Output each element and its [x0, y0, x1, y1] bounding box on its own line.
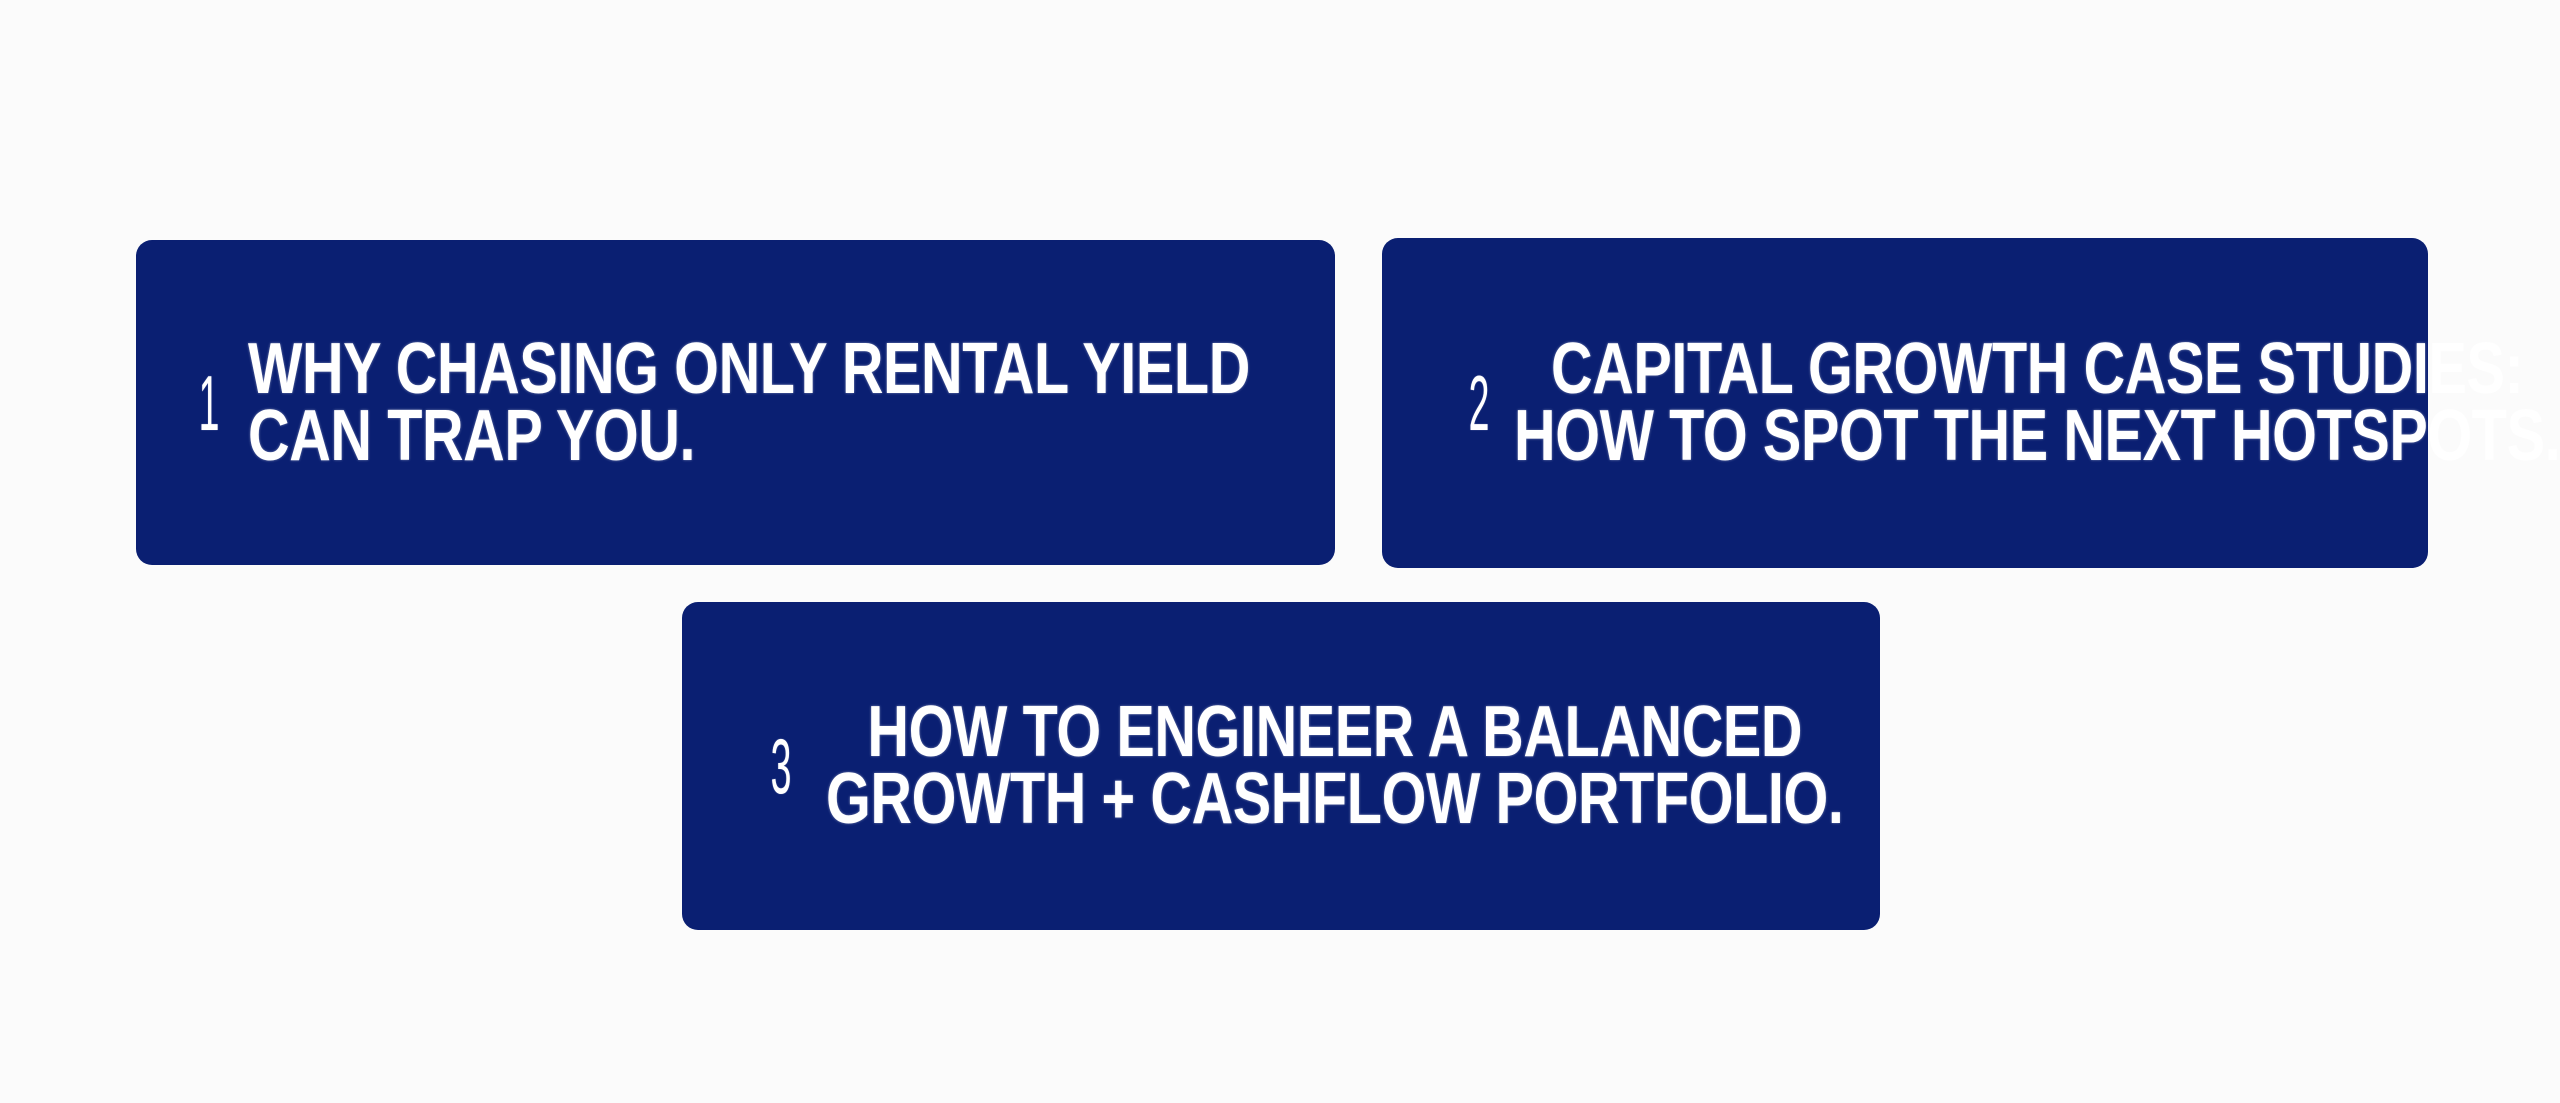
topic-card-1-title-line1: WHY CHASING ONLY RENTAL YIELD [248, 336, 1250, 403]
topic-card-2-title: CAPITAL GROWTH CASE STUDIES: HOW TO SPOT… [1514, 336, 2560, 470]
topic-card-1-title: WHY CHASING ONLY RENTAL YIELD CAN TRAP Y… [248, 336, 1250, 470]
topic-card-2-title-line2: HOW TO SPOT THE NEXT HOTSPOTS. [1514, 403, 2560, 470]
topic-card-2-number: 2 [1462, 364, 1496, 442]
topic-card-3-number: 3 [764, 727, 798, 805]
topic-card-3[interactable]: 3 HOW TO ENGINEER A BALANCED GROWTH + CA… [682, 602, 1880, 930]
topic-card-3-title-line1: HOW TO ENGINEER A BALANCED [826, 699, 1844, 766]
topic-card-3-title: HOW TO ENGINEER A BALANCED GROWTH + CASH… [826, 699, 1844, 833]
topic-card-2[interactable]: 2 CAPITAL GROWTH CASE STUDIES: HOW TO SP… [1382, 238, 2428, 568]
topic-card-2-title-line1: CAPITAL GROWTH CASE STUDIES: [1514, 336, 2560, 403]
topic-card-3-title-line2: GROWTH + CASHFLOW PORTFOLIO. [826, 766, 1844, 833]
topic-card-1-number: 1 [192, 364, 226, 442]
topic-card-1-title-line2: CAN TRAP YOU. [248, 403, 1250, 470]
topic-card-1[interactable]: 1 WHY CHASING ONLY RENTAL YIELD CAN TRAP… [136, 240, 1335, 565]
slide-canvas: 1 WHY CHASING ONLY RENTAL YIELD CAN TRAP… [0, 0, 2560, 1103]
